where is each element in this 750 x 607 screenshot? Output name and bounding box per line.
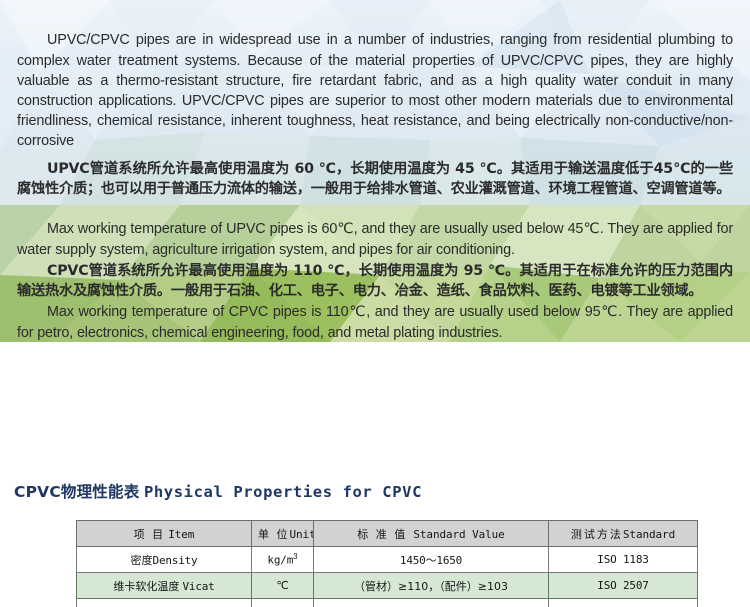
row-item-density-cn: 密度 bbox=[131, 554, 153, 567]
row-item-density: 密度Density bbox=[77, 547, 252, 573]
column-header-item-en: Item bbox=[168, 528, 194, 541]
row-item-vicat-en: Vicat bbox=[182, 580, 214, 593]
row-value-density: 1450～1650 bbox=[314, 547, 549, 573]
hero-text-block: UPVC/CPVC pipes are in widespread use in… bbox=[0, 0, 750, 342]
paragraph-upvc-temp-en: Max working temperature of UPVC pipes is… bbox=[17, 219, 733, 259]
row-unit-density-text: kg/m bbox=[267, 554, 293, 567]
hero-banner: UPVC/CPVC pipes are in widespread use in… bbox=[0, 0, 750, 342]
column-header-test-method-cn: 测试方法 bbox=[571, 528, 623, 541]
column-header-item: 项 目 Item bbox=[77, 521, 252, 547]
column-header-unit-en: Unit bbox=[290, 528, 314, 541]
table-header-row: 项 目 Item 单 位Unit 标 准 值 Standard Value 测试… bbox=[77, 521, 698, 547]
properties-section: CPVC物理性能表 Physical Properties for CPVC 项… bbox=[0, 342, 750, 600]
table-row: 维卡软化温度 Vicat ℃ （管材）≥110，（配件）≥103 ISO 250… bbox=[77, 573, 698, 599]
column-header-standard-value-en: Standard Value bbox=[413, 528, 504, 541]
section-heading: CPVC物理性能表 Physical Properties for CPVC bbox=[14, 480, 422, 502]
paragraph-cpvc-temp-en: Max working temperature of CPVC pipes is… bbox=[17, 302, 733, 342]
section-heading-cn: CPVC物理性能表 bbox=[14, 483, 139, 501]
row-unit-density: kg/m3 bbox=[252, 547, 314, 573]
column-header-unit: 单 位Unit bbox=[252, 521, 314, 547]
column-header-standard-value-cn: 标 准 值 bbox=[357, 528, 407, 541]
row-standard-density: ISO 1183 bbox=[549, 547, 698, 573]
column-header-test-method: 测试方法Standard bbox=[549, 521, 698, 547]
row-item-density-en: Density bbox=[153, 554, 198, 567]
paragraph-upvc-temp-cn: UPVC管道系统所允许最高使用温度为 60 ℃，长期使用温度为 45 ℃。其适用… bbox=[17, 160, 733, 200]
table-row: 密度Density kg/m3 1450～1650 ISO 1183 bbox=[77, 547, 698, 573]
row-item-vicat: 维卡软化温度 Vicat bbox=[77, 573, 252, 599]
row-item-vicat-cn: 维卡软化温度 bbox=[113, 580, 179, 593]
row-value-vicat: （管材）≥110，（配件）≥103 bbox=[314, 573, 549, 599]
row-standard-vicat: ISO 2507 bbox=[549, 573, 698, 599]
column-header-unit-cn: 单 位 bbox=[258, 528, 290, 541]
paragraph-upvc-intro-en: UPVC/CPVC pipes are in widespread use in… bbox=[17, 30, 733, 151]
physical-properties-table: 项 目 Item 单 位Unit 标 准 值 Standard Value 测试… bbox=[76, 520, 698, 607]
column-header-item-cn: 项 目 bbox=[134, 528, 166, 541]
row-unit-density-exponent: 3 bbox=[293, 552, 297, 561]
section-heading-en: Physical Properties for CPVC bbox=[144, 483, 422, 501]
column-header-standard-value: 标 准 值 Standard Value bbox=[314, 521, 549, 547]
row-unit-vicat: ℃ bbox=[252, 573, 314, 599]
paragraph-cpvc-temp-cn: CPVC管道系统所允许最高使用温度为 110 ℃，长期使用温度为 95 ℃。其适… bbox=[17, 262, 733, 302]
column-header-test-method-en: Standard bbox=[623, 528, 675, 541]
